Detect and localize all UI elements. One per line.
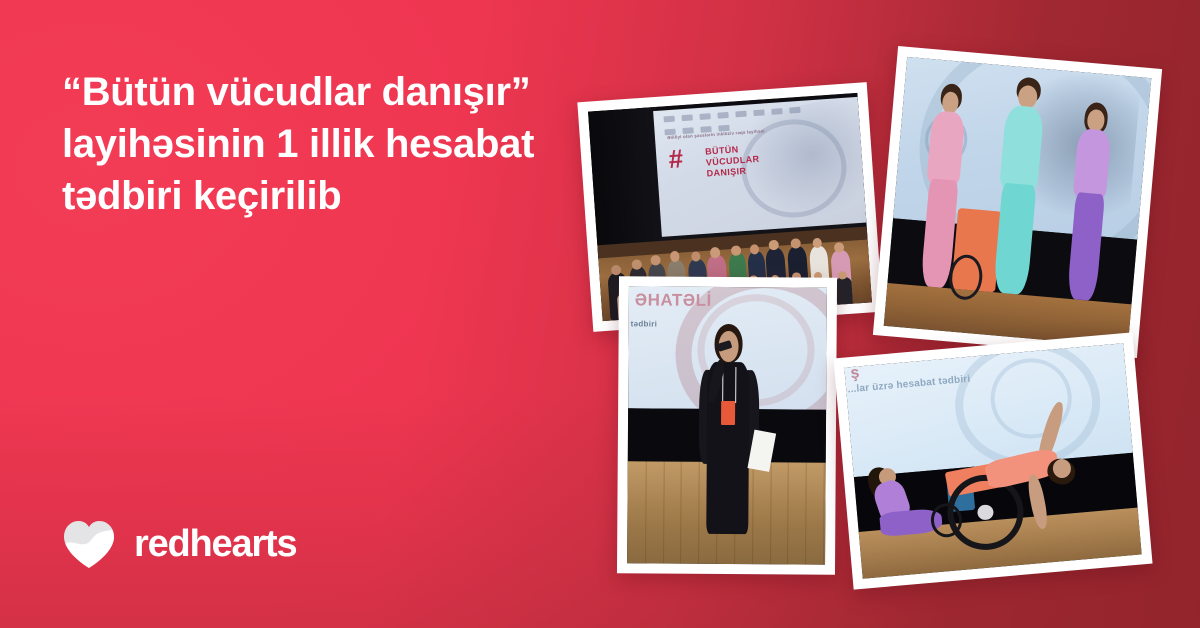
trio-dancers-photo <box>873 46 1162 358</box>
screen-text-fragment-2: tədbiri <box>631 319 658 328</box>
screen-text-fragment-1: ƏHATƏLİ <box>635 291 712 309</box>
brand-logo-lockup[interactable]: redhearts <box>62 519 296 569</box>
social-share-card: “Bütün vücudlar danışır” layihəsinin 1 i… <box>0 0 1200 628</box>
speaker-image: ƏHATƏLİ tədbiri <box>627 286 827 564</box>
trio-dancers-image <box>884 57 1152 347</box>
screen-subtitle-text: ...lar üzrə hesabat tədbiri <box>847 373 971 395</box>
screen-headline-remnant: ş <box>850 364 861 383</box>
duo-dancers-wheelchair-photo: ş ...lar üzrə hesabat tədbiri <box>833 332 1152 589</box>
speaker-with-microphone-photo: ƏHATƏLİ tədbiri <box>617 276 837 575</box>
brand-wordmark: redhearts <box>134 525 296 563</box>
event-badge <box>721 401 735 426</box>
heart-wave-icon <box>62 519 116 569</box>
screen-title-text: BÜTÜN VÜCUDLAR DANIŞIR <box>705 143 761 180</box>
duo-dancers-image: ş ...lar üzrə hesabat tədbiri <box>844 343 1141 579</box>
lanyard <box>722 367 736 403</box>
screen-hashtag-glyph: # <box>668 147 683 170</box>
